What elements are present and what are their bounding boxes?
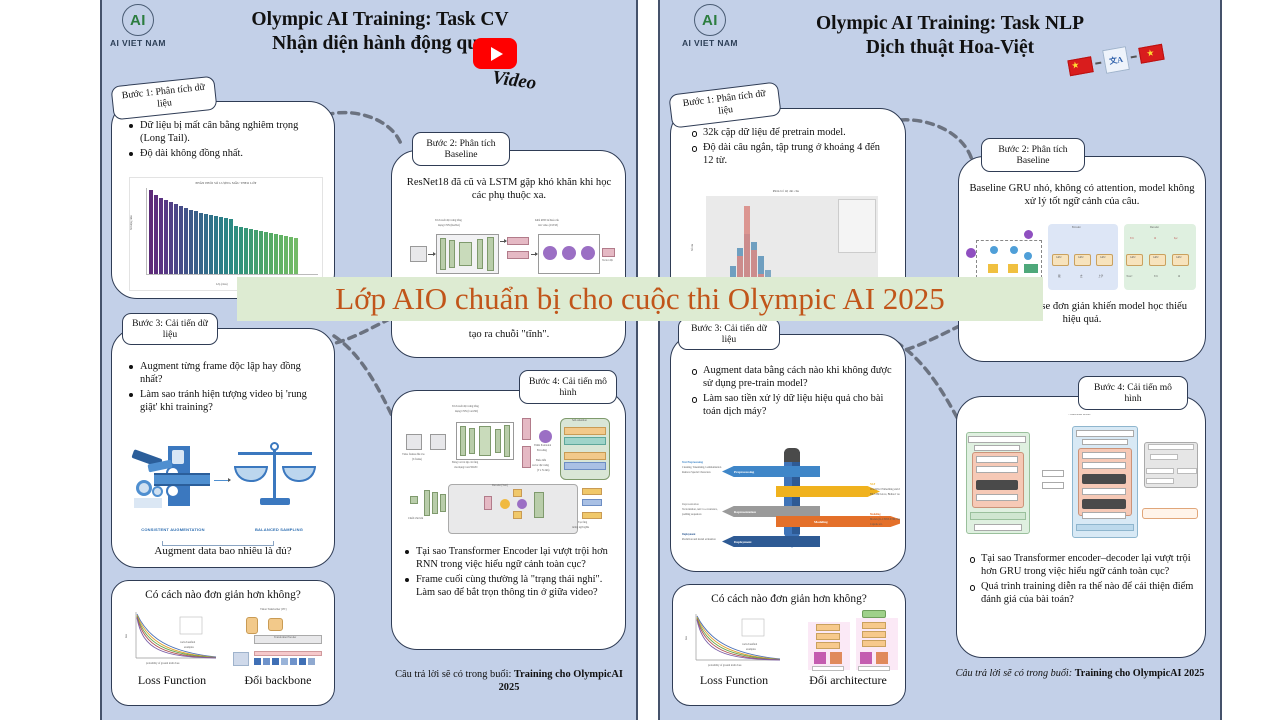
step1-bullet-list: Dữ liệu bị mất cân bằng nghiêm trọng (Lo…	[127, 119, 319, 162]
pencil-eraser	[784, 448, 800, 462]
list-item: Làm sao tiền xử lý dữ liệu hiệu quả cho …	[690, 392, 896, 418]
step3-bullet-list: Augment data bằng cách nào khi không đượ…	[690, 364, 896, 420]
figure-src-token: 我	[1058, 276, 1061, 279]
figure-hist-title: Phân bố độ dài câu	[690, 189, 882, 193]
figure-out-label2: tương ngữ nghĩa	[572, 527, 589, 530]
pipeline-note-left: Cleaning, Tokenizing, Lemmatization	[682, 467, 721, 470]
figure-loss-curves	[124, 608, 220, 670]
logo-circle-icon: AI	[122, 4, 154, 36]
figure-vit-encoder-label: Transformer Encoder	[274, 637, 296, 640]
figure-pe-label2: Encoding	[537, 450, 547, 453]
figure-loss-annotation2: examples	[184, 647, 194, 650]
play-triangle-icon	[491, 47, 503, 61]
figure-lstm-cell	[543, 246, 557, 260]
pipeline-note-left: Deployment	[682, 534, 695, 537]
figure-lstm-cell	[581, 246, 595, 260]
list-item: Tại sao Transformer encoder–decoder lại …	[968, 552, 1194, 578]
figure-dec-box	[1076, 430, 1134, 437]
illus-scale-pan-left	[234, 466, 268, 482]
figure-pe-label: Thêm Positional	[534, 445, 551, 448]
panel-left-border	[658, 0, 660, 720]
figure-cnn-layer	[479, 426, 491, 456]
figure-emb-label: Chuỗi văn bản	[408, 518, 423, 521]
list-item: Độ dài câu ngắn, tập trung ở khoảng 4 đế…	[690, 141, 890, 167]
tag-step1-label: Bước 1: Phân tích dữ liệu	[118, 82, 210, 115]
figure-dec-box	[513, 489, 522, 497]
list-item: Tại sao Transformer Encoder lại vượt trộ…	[403, 545, 613, 571]
logo-name-text: AI VIET NAM	[110, 38, 166, 48]
illus-roller	[166, 484, 180, 498]
pipeline-note-left: Remove Special Characters	[682, 472, 711, 475]
figure-vit-patch	[308, 658, 315, 665]
pipeline-note-left: Prediction and model evaluation	[682, 539, 716, 542]
figure-enc-input	[974, 524, 1022, 531]
figure-arch-top	[862, 610, 886, 618]
pipeline-note-right: BiLSTM/Glove, Bidirect vector	[870, 494, 900, 497]
figure-tgt-token: <bos>	[1126, 276, 1133, 279]
figure-arch-box	[816, 633, 840, 640]
slide-left-task-cv: AI AI VIET NAM Olympic AI Training: Task…	[100, 0, 638, 720]
figure-loss-function: probability of ground truth class loss w…	[684, 610, 784, 672]
figure-input-label2: (T-frame)	[412, 459, 422, 462]
figure-emb-stack	[432, 492, 438, 514]
vietnam-flag-icon: ★	[1138, 44, 1164, 64]
list-item: Augment data bằng cách nào khi không đượ…	[690, 364, 896, 390]
panel-right-border	[1220, 0, 1222, 720]
figure-out-token	[582, 512, 602, 519]
figure-class-distribution: PHÂN PHỐI SỐ LƯỢNG MẪU THEO LỚP Số lượng…	[129, 177, 323, 291]
pipeline-note-left: Text Preprocessing	[682, 462, 703, 465]
figure-gru-text: GRU	[1078, 257, 1083, 260]
figure-cnn-layer	[504, 425, 510, 457]
figure-dec-attn2	[1082, 499, 1126, 509]
figure-transformer-title: ~Transformer Model~	[1068, 414, 1091, 417]
figure-decoder-label: Decoder	[1150, 227, 1159, 230]
figure-graph-node	[966, 248, 976, 258]
figure-y-axis-label: Số lượng mẫu	[131, 215, 134, 230]
list-item: Quá trình training diễn ra thế nào để cả…	[968, 580, 1194, 606]
bottom-label-loss-function: Loss Function	[682, 673, 786, 688]
figure-src-token: 去	[1080, 276, 1083, 279]
panel-right-border	[636, 0, 638, 720]
pipeline-stage-nlp	[776, 486, 880, 497]
bottom-card-question: Có cách nào đơn giản hơn không?	[120, 588, 326, 602]
footer-note: Câu trả lời sẽ có trong buổi: Training c…	[954, 668, 1206, 681]
list-item: 32k cặp dữ liệu để pretrain model.	[690, 126, 890, 139]
figure-transformer-encoder-decoder: ~Transformer Model~	[964, 414, 1200, 546]
figure-cnn-layer	[469, 428, 475, 454]
slide-right-task-nlp: AI AI VIET NAM Olympic AI Training: Task…	[658, 0, 1222, 720]
figure-positional-encoding	[539, 430, 552, 443]
figure-frames	[430, 434, 446, 450]
logo-name-text: AI VIET NAM	[682, 38, 738, 48]
figure-lstm-cell	[562, 246, 576, 260]
figure-note-box	[1142, 508, 1198, 519]
figure-pe-label5: (T x N dim)	[537, 470, 549, 473]
figure-loss-ylabel: loss	[686, 636, 689, 640]
figure-enc-embed	[970, 512, 1026, 520]
tag-step2: Bước 2: Phân tích Baseline	[412, 132, 510, 166]
illus-scale-base	[260, 498, 290, 505]
pipeline-stage-label: Deployment	[734, 540, 752, 544]
figure-arch-inbox	[858, 666, 890, 671]
figure-dec-box	[1082, 462, 1126, 469]
figure-dec-node	[517, 499, 527, 509]
illus-filmstrip	[154, 473, 210, 486]
figure-x-axis	[146, 274, 318, 275]
figure-tgt-token: Tôi	[1154, 276, 1158, 279]
china-flag-icon: ★	[1067, 56, 1093, 76]
tag-step3: Bước 3: Cải tiến dữ liệu	[122, 313, 218, 345]
figure-dec-layer	[534, 492, 544, 518]
figure-gru-text: GRU	[1153, 257, 1158, 260]
slide-title: Olympic AI Training: Task CV Nhận diện h…	[180, 8, 580, 56]
figure-emb-stack	[424, 490, 430, 516]
step1-bullet-list: 32k cặp dữ liệu để pretrain model. Độ dà…	[690, 126, 890, 169]
bottom-label-loss-function: Loss Function	[122, 673, 222, 688]
logo-circle-icon: AI	[694, 4, 726, 36]
list-item: Augment từng frame độc lập hay đồng nhất…	[127, 360, 323, 386]
pipeline-note-left: Representation	[682, 504, 699, 507]
figure-y-axis	[146, 188, 147, 274]
figure-loss-function: probability of ground truth class loss w…	[124, 608, 220, 670]
illus-arrow	[214, 480, 230, 481]
video-word-label: Video	[491, 67, 538, 95]
figure-loss-annotation: well-classified	[180, 642, 195, 645]
tag-step3-label: Bước 3: Cải tiến dữ liệu	[129, 318, 211, 341]
pipeline-note-right: Models (K-CNN/LSTM, Neurons,	[870, 519, 900, 522]
figure-detail-box	[1146, 468, 1174, 474]
figure-bars	[149, 188, 298, 274]
figure-arch-emb	[814, 652, 826, 664]
figure-arrow	[531, 254, 537, 255]
figure-label-consistent-augmentation: CONSISTENT AUGMENTATION	[138, 528, 208, 533]
figure-gru-text: GRU	[1130, 257, 1135, 260]
figure-cnn-layer	[460, 426, 466, 456]
figure-dec-box	[1082, 512, 1126, 519]
translate-icon: 文A	[1102, 46, 1130, 74]
tag-step4-label: Bước 4: Cải tiến mô hình	[1085, 382, 1181, 405]
footer-bold: Training cho OlympicAI 2025	[499, 669, 623, 693]
figure-vit-patch	[254, 658, 261, 665]
tag-step2: Bước 2: Phân tích Baseline	[981, 138, 1085, 172]
figure-vit-patch	[272, 658, 279, 665]
figure-rnn-label2: trúc video (LSTM)	[538, 225, 558, 228]
figure-ffn	[564, 462, 606, 470]
footer-note: Câu trả lời sẽ có trong buổi: Training c…	[391, 668, 627, 694]
step4-bullet-list: Tại sao Transformer Encoder lại vượt trộ…	[403, 545, 613, 601]
pipeline-note-right: NLP	[870, 484, 875, 487]
pipeline-stage-label: Preprocessing	[734, 470, 754, 474]
figure-src-token: 上学	[1098, 276, 1103, 279]
figure-detail-box	[1177, 468, 1197, 474]
pipeline-stage-preprocessing: Preprocessing	[722, 466, 820, 477]
figure-label-balanced-sampling: BALANCED SAMPLING	[248, 528, 310, 533]
figure-enc-box	[968, 436, 1026, 443]
illus-scale-pan-right	[282, 466, 316, 482]
dash-connector	[1131, 56, 1137, 59]
figure-loss-annotation2: examples	[746, 649, 756, 652]
ai-vietnam-logo: AI AI VIET NAM	[110, 4, 166, 48]
slide-title-line2: Nhận diện hành động qua	[180, 32, 580, 56]
tag-step4: Bước 4: Cải tiến mô hình	[1078, 376, 1188, 410]
bottom-card-question: Có cách nào đơn giản hơn không?	[680, 592, 898, 606]
logo-mark-text: AI	[702, 12, 718, 29]
figure-pe-label3: Biểu diễn	[536, 460, 546, 463]
figure-backbone: Vision Transformer (ViT) Transformer Enc…	[230, 608, 326, 670]
footer-bold: Training cho OlympicAI 2025	[1075, 668, 1205, 679]
slide-title-line1: Olympic AI Training: Task NLP	[750, 12, 1150, 36]
figure-loss-xlabel: probability of ground truth class	[708, 665, 741, 668]
figure-selfattn-title: Self-Attention	[572, 420, 587, 423]
list-item: Làm sao tránh hiện tượng video bị 'rung …	[127, 388, 323, 414]
footer-prefix: Câu trả lời sẽ có trong buổi:	[956, 668, 1075, 679]
figure-loss-curves	[684, 610, 784, 672]
figure-enc-box	[976, 456, 1018, 463]
figure-vit-image	[233, 652, 249, 666]
figure-arch-box	[816, 642, 840, 649]
figure-architecture	[794, 608, 900, 672]
figure-vit-patch	[263, 658, 270, 665]
figure-loss-annotation: well-classified	[742, 644, 757, 647]
figure-pe-label4: vector đặc trưng	[532, 465, 549, 468]
bottom-label-backbone: Đổi backbone	[228, 673, 328, 688]
tag-step3-label: Bước 3: Cải tiến dữ liệu	[685, 323, 773, 346]
tag-step3: Bước 3: Cải tiến dữ liệu	[678, 318, 780, 350]
step2-bottom-text: tạo ra chuỗi "tĩnh".	[403, 328, 615, 341]
figure-vit-mlp	[268, 618, 283, 631]
figure-tgt-token: đi	[1178, 276, 1180, 279]
figure-dec-embed	[1076, 524, 1134, 531]
figure-enc-box	[974, 445, 1020, 451]
figure-cnn-layer	[459, 242, 472, 266]
figure-tgt-out: Tôi	[1130, 238, 1134, 241]
figure-arch-box	[862, 622, 886, 629]
step2-paragraph: ResNet18 đã cũ và LSTM gặp khó khăn khi …	[403, 176, 615, 203]
figure-vit-title: Vision Transformer (ViT)	[260, 609, 287, 612]
figure-graph-node	[1024, 230, 1033, 239]
figure-dec-attn	[1082, 474, 1126, 484]
figure-decoder-title: Decoder (Text)	[492, 485, 508, 488]
figure-vector-label: Vector đặc	[602, 260, 613, 263]
figure-addnorm2	[564, 452, 606, 460]
figure-vit-patch	[281, 658, 288, 665]
list-item: Frame cuối cùng thường là "trạng thái ng…	[403, 573, 613, 599]
pipeline-stage-label: Modeling	[814, 520, 828, 524]
figure-detail-box	[1150, 454, 1178, 460]
figure-cnn-label: Trích xuất đặc trưng bằng	[452, 406, 479, 409]
figure-arch-box	[816, 624, 840, 631]
figure-data-pipeline: Preprocessing Representation Modeling De…	[680, 448, 900, 558]
tag-step2-label: Bước 2: Phân tích Baseline	[988, 144, 1078, 167]
figure-encoder-label: Encoder	[1072, 227, 1081, 230]
figure-cnn-label2: mạng CNN (Conv3D)	[455, 411, 478, 414]
figure-out-token	[582, 499, 602, 506]
figure-tgt-out: học	[1174, 238, 1178, 241]
figure-output-vector	[602, 248, 615, 257]
figure-dec-token	[484, 496, 492, 510]
figure-enc-attn	[976, 480, 1018, 490]
pipeline-note-left: Vectorization, text Co-occurrence,	[682, 509, 718, 512]
figure-class-distribution-title: PHÂN PHỐI SỐ LƯỢNG MẪU THEO LỚP	[130, 181, 322, 185]
figure-frame-thumb	[410, 246, 427, 262]
step3-caption: Augment data bao nhiêu là đủ?	[138, 545, 308, 559]
tag-step1-label: Bước 1: Phân tích dữ liệu	[676, 87, 774, 122]
overlay-banner: Lớp AIO chuẩn bị cho cuộc thi Olympic AI…	[237, 277, 1043, 321]
tag-step2-label: Bước 2: Phân tích Baseline	[419, 138, 503, 161]
illus-scale-knob	[270, 442, 279, 451]
pipeline-stage-deployment: Deployment	[722, 536, 820, 547]
figure-cnn-layer	[440, 238, 446, 270]
slide-deck-screenshot: AI AI VIET NAM Olympic AI Training: Task…	[0, 0, 1280, 720]
figure-cnn-label: Trích xuất đặc trưng bằng	[435, 220, 462, 223]
figure-arch-box	[862, 640, 886, 647]
footer-prefix: Câu trả lời sẽ có trong buổi:	[395, 669, 514, 680]
figure-cnn-layer	[487, 237, 494, 271]
list-item: Độ dài không đồng nhất.	[127, 147, 319, 160]
pipeline-note-right: Capsule etc.	[870, 524, 883, 527]
figure-out-token	[582, 488, 602, 495]
figure-enc-box	[976, 466, 1018, 473]
figure-emb	[410, 496, 418, 504]
pipeline-note-right: Modeling	[870, 514, 881, 517]
figure-input-label: Video frames đầu vào	[402, 454, 425, 457]
figure-loss-ylabel: loss	[126, 634, 129, 638]
figure-dec-gate	[500, 499, 510, 509]
figure-dashed-box	[976, 240, 1042, 278]
figure-token	[522, 446, 531, 468]
figure-arch-emb	[830, 652, 842, 664]
figure-vit-patch	[290, 658, 297, 665]
figure-detail-box	[1148, 444, 1194, 450]
illus-gear	[136, 480, 152, 496]
figure-cnn-caption2: của mạng Conv3D/2D	[454, 467, 477, 470]
figure-addnorm	[564, 427, 606, 435]
figure-hist-ylabel: Số câu	[692, 244, 695, 251]
figure-frames	[406, 434, 422, 450]
figure-x-axis-label: Lớp (class)	[216, 284, 228, 287]
figure-gru-text: GRU	[1100, 257, 1105, 260]
figure-gru-text: GRU	[1176, 257, 1181, 260]
illus-machine-panel	[172, 450, 184, 464]
figure-gru-text: GRU	[1056, 257, 1061, 260]
figure-cnn-layer	[495, 429, 501, 453]
figure-emb-stack	[440, 494, 446, 512]
figure-token	[522, 418, 531, 440]
figure-vit-head	[246, 617, 258, 634]
tag-step4: Bước 4: Cải tiến mô hình	[519, 370, 617, 404]
figure-out-label: Tạo tầng	[578, 522, 587, 525]
figure-dec-box	[1082, 488, 1126, 495]
figure-mid-box	[1042, 470, 1064, 477]
figure-attn	[564, 437, 606, 445]
figure-enc-box	[976, 494, 1018, 501]
youtube-icon	[473, 38, 517, 69]
figure-cnn-label2: mạng CNN (ResNet)	[438, 225, 460, 228]
list-item: Dữ liệu bị mất cân bằng nghiêm trọng (Lo…	[127, 119, 319, 145]
figure-loss-xlabel: probability of ground truth class	[146, 663, 179, 666]
figure-vit-patchrow	[254, 651, 322, 656]
figure-arrow	[500, 241, 506, 242]
ai-vietnam-logo: AI AI VIET NAM	[682, 4, 738, 48]
figure-dec-box	[1082, 452, 1126, 459]
figure-augmentation-illustration	[130, 440, 320, 526]
bottom-label-architecture: Đổi architecture	[790, 673, 906, 688]
figure-cnn-caption: Đóng vai trò tập các tầng	[452, 462, 478, 465]
figure-cnn-layer	[477, 239, 483, 269]
logo-mark-text: AI	[130, 12, 146, 29]
figure-arch-inbox	[812, 666, 844, 671]
pipeline-stage-representation: Representation	[722, 506, 820, 517]
figure-rnn-label: Khối RNN để hiểu cấu	[535, 220, 559, 223]
figure-feature-vector	[507, 251, 529, 259]
step4-bullet-list: Tại sao Transformer encoder–decoder lại …	[968, 552, 1194, 608]
figure-arch-emb	[860, 652, 872, 664]
figure-detail-box	[1146, 478, 1174, 484]
figure-tgt-out: đi	[1154, 238, 1156, 241]
figure-mid-box	[1042, 482, 1064, 489]
tag-step4-label: Bước 4: Cải tiến mô hình	[526, 376, 610, 399]
illus-scale-beam	[238, 452, 312, 455]
figure-vit-patch	[299, 658, 306, 665]
figure-arch-box	[862, 631, 886, 638]
dash-connector	[1095, 62, 1101, 65]
figure-hist-legend	[838, 199, 876, 253]
illus-gear	[152, 486, 163, 497]
pipeline-note-right: Word2Vec Embedding enrichment,	[870, 489, 900, 492]
figure-arch-emb	[876, 652, 888, 664]
slide-title-line1: Olympic AI Training: Task CV	[180, 8, 580, 32]
figure-transformer-video-model: Trích xuất đặc trưng bằng mạng CNN (Conv…	[400, 404, 618, 538]
step3-bullet-list: Augment từng frame độc lập hay đồng nhất…	[127, 360, 323, 416]
figure-feature-vector	[507, 237, 529, 245]
figure-cnn-layer	[449, 240, 455, 268]
figure-dec-box	[1082, 439, 1128, 445]
figure-arrow	[428, 254, 435, 255]
illus-base	[134, 498, 162, 508]
figure-dec-box	[513, 511, 522, 519]
pipeline-note-left: padding sequences	[682, 514, 702, 517]
panel-left-border	[100, 0, 102, 720]
overlay-banner-text: Lớp AIO chuẩn bị cho cuộc thi Olympic AI…	[335, 281, 945, 317]
step2-paragraph: Baseline GRU nhỏ, không có attention, mo…	[968, 182, 1196, 209]
pipeline-stage-label: Representation	[734, 510, 756, 514]
